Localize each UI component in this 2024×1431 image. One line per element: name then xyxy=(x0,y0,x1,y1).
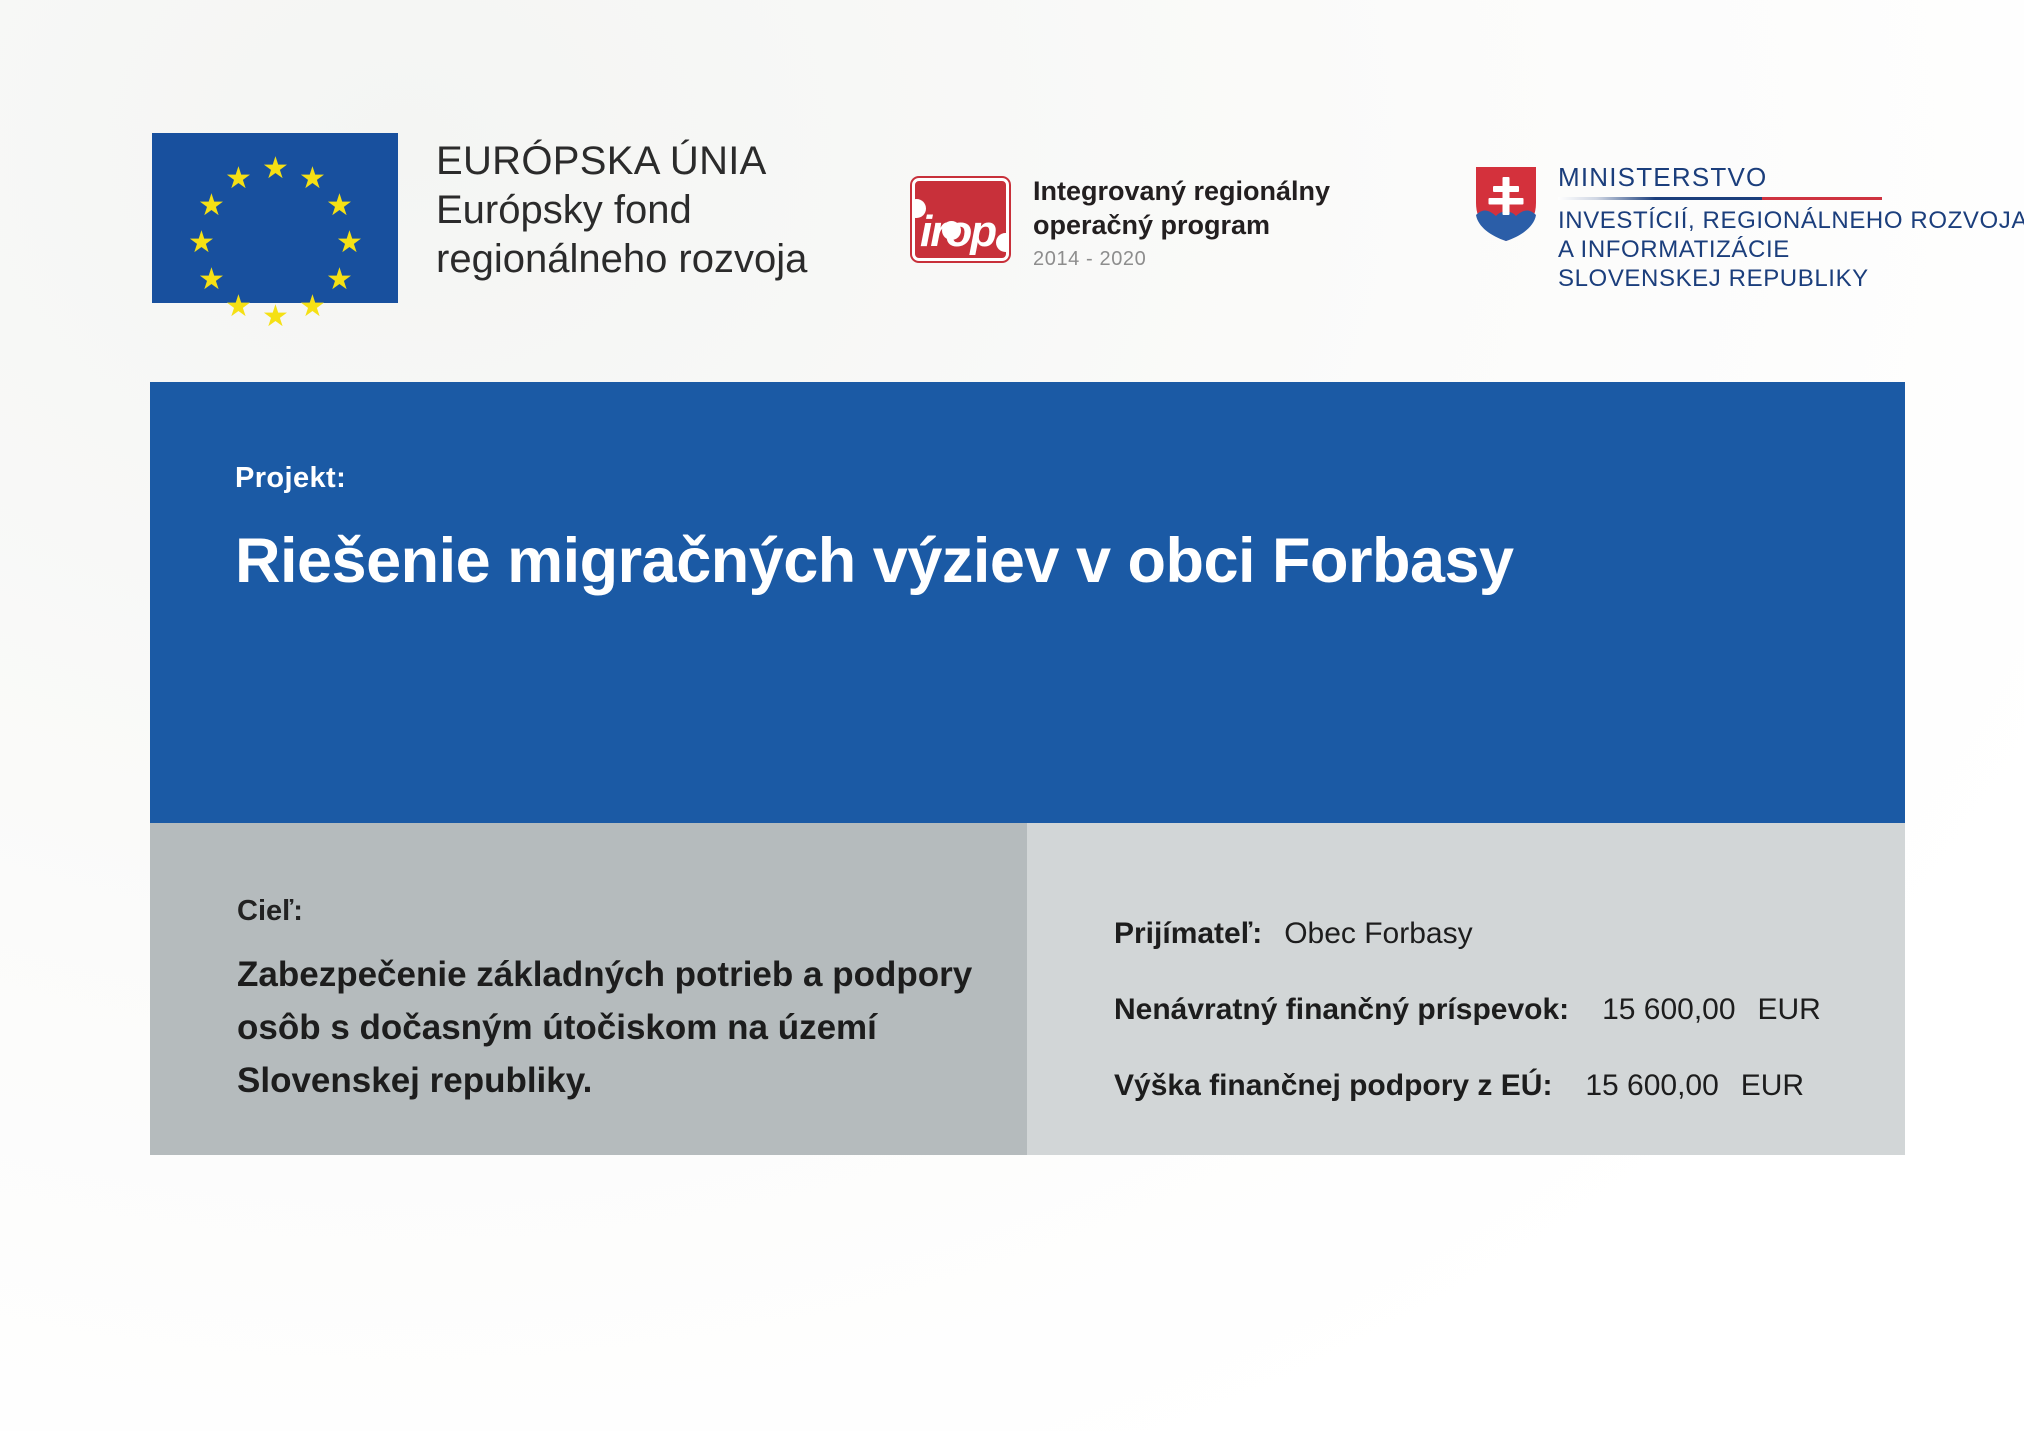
eu-title-line: EURÓPSKA ÚNIA xyxy=(436,137,807,186)
goal-label: Cieľ: xyxy=(237,895,303,928)
eu-star-icon: ★ xyxy=(188,230,214,256)
eu-star-icon: ★ xyxy=(225,294,251,320)
eu-fund-line-1: Európsky fond xyxy=(436,186,807,235)
eu-star-icon: ★ xyxy=(326,267,352,293)
eu-star-icon: ★ xyxy=(198,267,224,293)
grant-amount-row: Nenávratný finančný príspevok: 15 600,00… xyxy=(1114,993,1821,1027)
ministry-logo: MINISTERSTVO INVESTÍCIÍ, REGIONÁLNEHO RO… xyxy=(1474,162,2024,293)
ministry-divider-rule xyxy=(1558,197,1882,200)
eu-star-icon: ★ xyxy=(326,193,352,219)
eu-star-icon: ★ xyxy=(225,166,251,192)
details-panel: Prijímateľ: Obec Forbasy Nenávratný fina… xyxy=(1027,823,1905,1155)
grant-label: Nenávratný finančný príspevok: xyxy=(1114,993,1569,1026)
goal-text: Zabezpečenie základných potrieb a podpor… xyxy=(237,948,977,1107)
eu-star-icon: ★ xyxy=(299,166,325,192)
eu-star-icon: ★ xyxy=(299,294,325,320)
slovak-coat-of-arms-icon xyxy=(1474,165,1538,243)
irop-program-line-1: Integrovaný regionálny xyxy=(1033,174,1330,208)
eu-star-icon: ★ xyxy=(198,193,224,219)
page-title: Riešenie migračných výziev v obci Forbas… xyxy=(235,525,1514,597)
irop-period: 2014 - 2020 xyxy=(1033,245,1330,273)
grant-currency: EUR xyxy=(1757,993,1820,1026)
irop-mark-icon: irop xyxy=(912,178,1009,261)
project-information-board: ★ ★ ★ ★ ★ ★ ★ ★ ★ ★ ★ ★ EURÓPSKA ÚNIA Eu… xyxy=(0,0,2024,1431)
eu-logo: ★ ★ ★ ★ ★ ★ ★ ★ ★ ★ ★ ★ EURÓPSKA ÚNIA Eu… xyxy=(152,133,807,303)
irop-logo-text: Integrovaný regionálny operačný program … xyxy=(1033,174,1330,273)
beneficiary-value: Obec Forbasy xyxy=(1284,917,1472,950)
eu-support-currency: EUR xyxy=(1741,1069,1804,1102)
eu-support-amount: 15 600,00 xyxy=(1585,1069,1718,1102)
irop-wordmark: irop xyxy=(920,210,995,254)
logo-header-bar: ★ ★ ★ ★ ★ ★ ★ ★ ★ ★ ★ ★ EURÓPSKA ÚNIA Eu… xyxy=(0,0,2024,370)
eu-star-icon: ★ xyxy=(336,230,362,256)
goal-panel: Cieľ: Zabezpečenie základných potrieb a … xyxy=(150,823,1027,1155)
project-label: Projekt: xyxy=(235,462,346,495)
eu-star-icon: ★ xyxy=(262,156,288,182)
project-title-panel: Projekt: Riešenie migračných výziev v ob… xyxy=(150,382,1905,823)
ministry-logo-text: MINISTERSTVO INVESTÍCIÍ, REGIONÁLNEHO RO… xyxy=(1558,162,2024,293)
eu-flag-icon: ★ ★ ★ ★ ★ ★ ★ ★ ★ ★ ★ ★ xyxy=(152,133,398,303)
irop-notch-shape xyxy=(996,233,1009,252)
irop-program-line-2: operačný program xyxy=(1033,208,1330,242)
eu-logo-text: EURÓPSKA ÚNIA Európsky fond regionálneho… xyxy=(436,137,807,284)
ministry-line-1: MINISTERSTVO xyxy=(1558,162,2024,192)
ministry-line-4: SLOVENSKEJ REPUBLIKY xyxy=(1558,264,2024,293)
beneficiary-label: Prijímateľ: xyxy=(1114,917,1262,950)
beneficiary-row: Prijímateľ: Obec Forbasy xyxy=(1114,917,1473,951)
ministry-line-2: INVESTÍCIÍ, REGIONÁLNEHO ROZVOJA xyxy=(1558,206,2024,235)
grant-amount: 15 600,00 xyxy=(1602,993,1735,1026)
eu-star-icon: ★ xyxy=(262,304,288,330)
eu-fund-line-2: regionálneho rozvoja xyxy=(436,235,807,284)
eu-support-row: Výška finančnej podpory z EÚ: 15 600,00 … xyxy=(1114,1069,1804,1103)
ministry-line-3: A INFORMATIZÁCIE xyxy=(1558,235,2024,264)
irop-logo: irop Integrovaný regionálny operačný pro… xyxy=(912,178,1330,273)
eu-support-label: Výška finančnej podpory z EÚ: xyxy=(1114,1069,1552,1102)
